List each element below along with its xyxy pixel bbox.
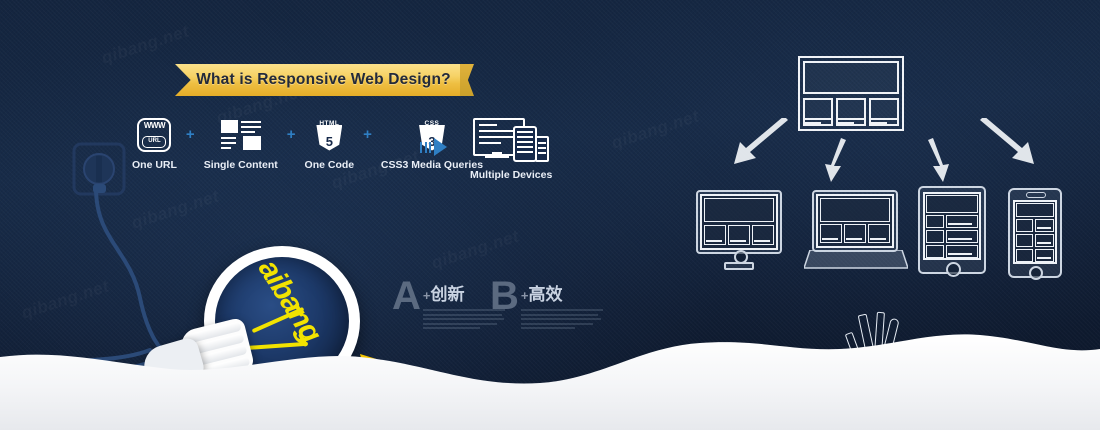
- desktop-monitor-icon: [696, 190, 786, 276]
- feature-one-url: WWW URL One URL: [132, 118, 177, 171]
- bottom-wave: [0, 305, 1100, 430]
- watermark: qibang.net: [99, 21, 192, 68]
- html5-badge-number: 5: [316, 135, 342, 148]
- watermark: qibang.net: [609, 106, 702, 153]
- feature-single-content: Single Content: [204, 118, 278, 171]
- wireframe-layout-icon: [798, 56, 904, 131]
- feature-label: One URL: [132, 159, 177, 171]
- section-title-ribbon: What is Responsive Web Design?: [175, 64, 460, 96]
- plus-separator: +: [363, 126, 372, 143]
- arrow-down-icon: [922, 138, 952, 184]
- right-arrow-icon: [420, 138, 447, 156]
- arrow-down-right-icon: [978, 118, 1038, 168]
- www-url-icon: WWW URL: [137, 118, 171, 152]
- plus-separator: +: [287, 126, 296, 143]
- page-title: What is Responsive Web Design?: [175, 64, 460, 96]
- watermark: qibang.net: [429, 226, 522, 273]
- tablet-icon: [918, 186, 988, 278]
- ribbon-tail: [458, 64, 474, 96]
- single-content-icon: [221, 118, 261, 152]
- feature-label: One Code: [305, 159, 355, 171]
- responsive-flow-diagram: [690, 38, 1090, 308]
- html5-shield-icon: HTML 5: [316, 118, 342, 152]
- feature-label: Single Content: [204, 159, 278, 171]
- laptop-icon: [804, 190, 908, 276]
- www-label: WWW: [139, 121, 169, 130]
- plus-separator: +: [186, 126, 195, 143]
- smartphone-icon: [1008, 188, 1066, 280]
- responsive-web-design-banner: qibang.net qibang.net qibang.net qibang.…: [0, 0, 1100, 430]
- multiple-devices-icon: [473, 118, 549, 160]
- feature-one-code: HTML 5 One Code: [305, 118, 355, 171]
- feature-multiple-devices: Multiple Devices: [470, 118, 552, 181]
- arrow-down-icon: [822, 138, 852, 184]
- arrow-down-left-icon: [730, 118, 790, 168]
- feature-label: CSS3 Media Queries: [381, 159, 483, 171]
- feature-label: Multiple Devices: [470, 169, 552, 181]
- highlight-heading: 创新: [430, 285, 464, 304]
- url-label: URL: [142, 136, 166, 148]
- highlight-heading: 高效: [528, 285, 562, 304]
